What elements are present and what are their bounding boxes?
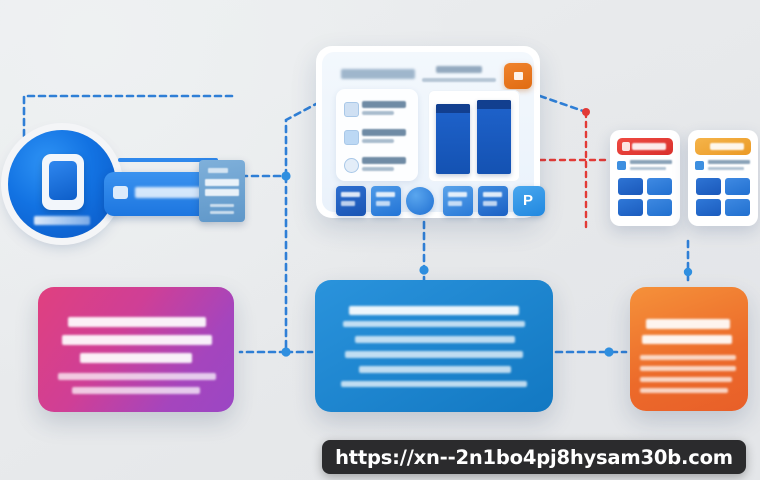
tile-button[interactable] [336,186,366,216]
card-heading-line [62,335,212,345]
card-body-line [345,351,523,358]
gradient-card-blue[interactable] [315,280,553,412]
gradient-card-orange[interactable] [630,287,748,411]
doc-line [210,204,234,207]
card-tile[interactable] [618,199,643,216]
card-subtitle [708,160,750,164]
device-icon [42,154,84,210]
list-item[interactable] [344,127,412,151]
grid-icon [344,130,359,145]
node-dot [419,265,428,274]
card-body [58,373,216,380]
node-dot-red [582,108,590,116]
card-tile[interactable] [618,178,643,195]
doc-line [205,179,239,186]
node-dot [281,347,290,356]
list-item[interactable] [344,99,412,123]
doc-line [210,211,234,214]
diagram-canvas: P [0,0,760,480]
card-subtitle-row [617,160,673,172]
card-heading-line [642,335,732,344]
document-preview-card[interactable] [199,160,245,222]
card-header [695,138,751,155]
tile-label: P [523,192,533,210]
list-item-subtitle [362,167,394,171]
chart-bar [477,100,511,174]
card-subtitle-second-line [630,167,666,170]
badge-pill-label [135,187,201,198]
card-tile[interactable] [696,199,721,216]
circular-brand-badge[interactable] [8,130,116,238]
card-heading [68,317,206,327]
dashboard-panel[interactable]: P [316,46,540,218]
chart-title [436,66,482,73]
right-card-group [610,130,758,226]
card-tile[interactable] [725,199,750,216]
chart-area [428,90,520,182]
list-item-subtitle [362,111,394,115]
card-heading [646,319,730,329]
card-subtitle [630,160,672,164]
dashboard-title [341,69,415,79]
chart-subtitle [422,78,496,82]
export-button[interactable] [504,63,532,89]
red-header-card[interactable] [610,130,680,226]
card-body-line [341,381,527,387]
card-body-line [640,377,732,382]
dashboard-panel-body: P [322,52,534,212]
card-subtitle-row [695,160,751,172]
square-icon [344,102,359,117]
node-dot [604,347,613,356]
connector-doccard-to-center [286,104,316,176]
card-header-label [710,143,744,150]
node-dot [281,171,290,180]
connector-center-to-right-top [540,96,586,112]
card-header [617,138,673,155]
tile-row: P [336,186,532,218]
list-item-title [362,129,406,136]
card-body-line [355,336,515,343]
list-item-title [362,157,406,164]
doc-line [205,189,239,196]
amber-header-card[interactable] [688,130,758,226]
list-item[interactable] [344,155,412,179]
url-text: https://xn--2n1bo4pj8hysam30b.com [335,446,733,469]
gradient-card-pink[interactable] [38,287,234,412]
card-body-line [72,387,200,394]
card-body [343,321,525,327]
list-item-subtitle [362,139,394,143]
card-heading [349,306,519,315]
tile-button[interactable] [443,186,473,216]
dashboard-list[interactable] [336,89,418,181]
badge-caption [34,216,90,225]
card-tile[interactable] [647,199,672,216]
list-item-title [362,101,406,108]
tile-button[interactable] [371,186,401,216]
card-heading-line [80,353,192,363]
card-tile[interactable] [696,178,721,195]
badge-icon [695,161,704,170]
card-tile[interactable] [647,178,672,195]
card-body [640,355,736,360]
card-subtitle-second-line [708,167,744,170]
url-banner: https://xn--2n1bo4pj8hysam30b.com [322,440,746,474]
doc-line [208,168,228,173]
card-body-line [640,388,728,393]
card-header-label [632,143,666,150]
tile-button[interactable] [478,186,508,216]
card-body-line [640,366,736,371]
shield-icon [622,142,630,151]
tile-button-circle[interactable] [406,187,434,215]
screen-icon [113,186,128,199]
chart-bar [436,104,470,174]
badge-icon [617,161,626,170]
card-tile[interactable] [725,178,750,195]
circle-icon [344,158,359,173]
card-body-line [359,366,511,373]
tile-button-p[interactable]: P [513,186,545,216]
node-dot [684,268,692,276]
